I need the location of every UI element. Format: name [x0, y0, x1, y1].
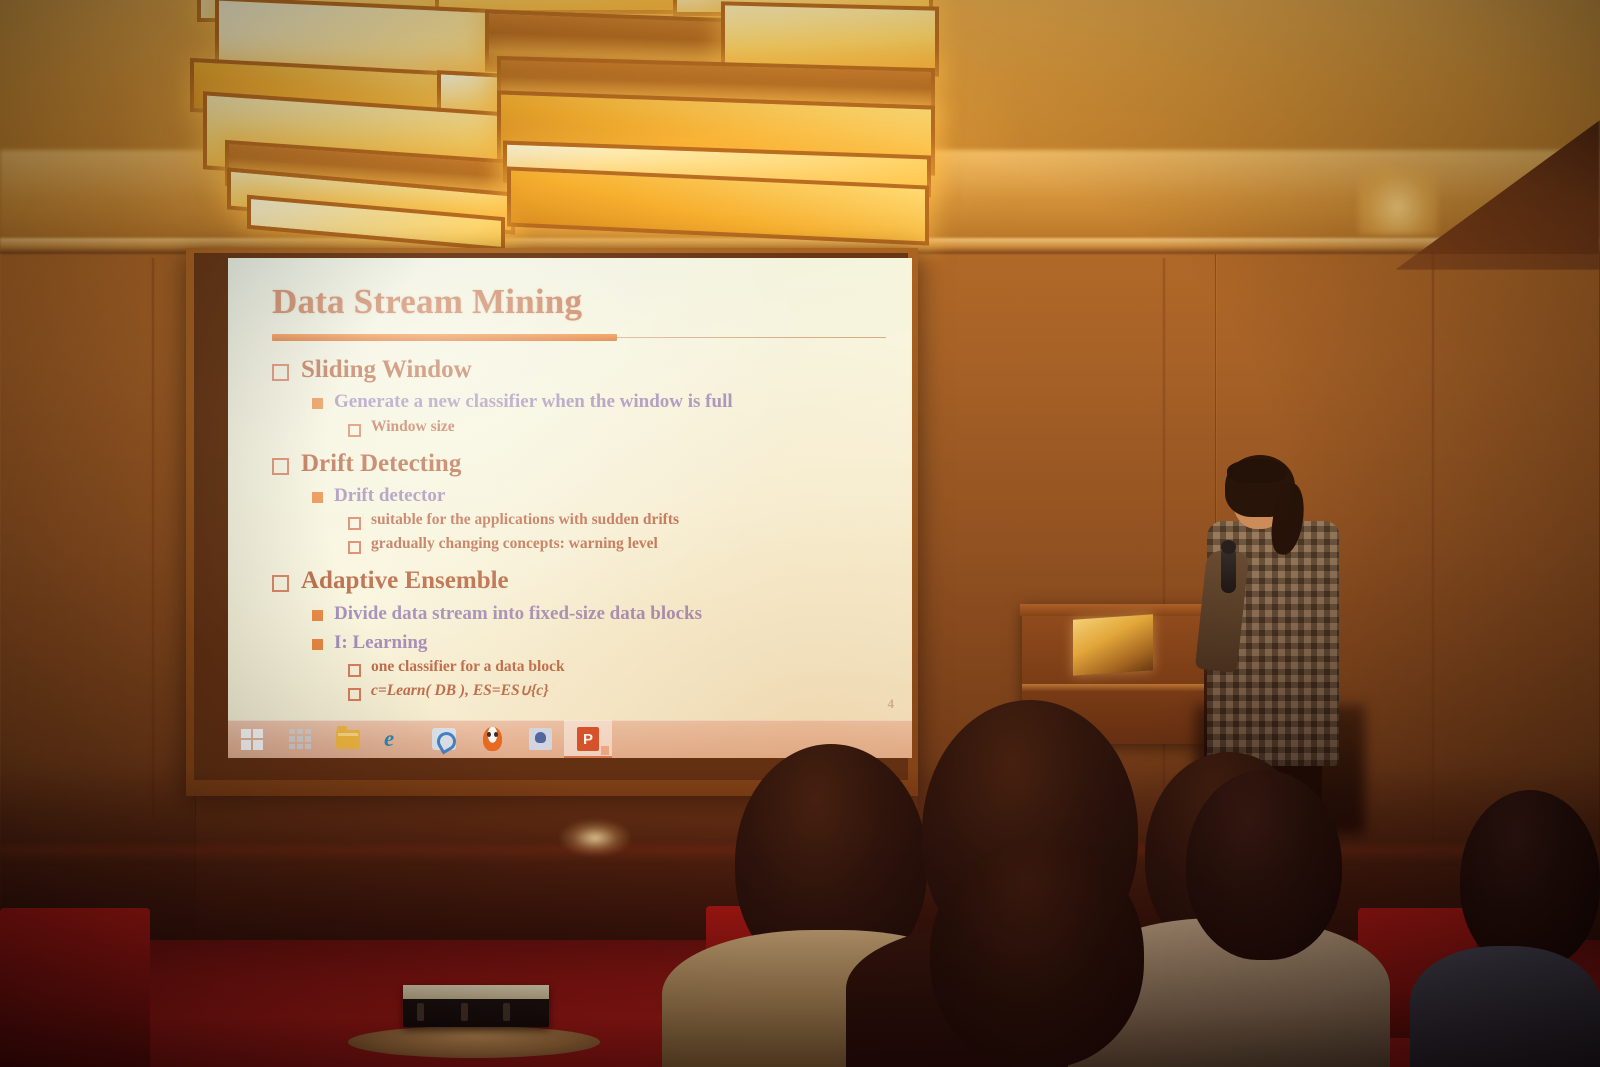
slide-bullet-list: Sliding Window Generate a new classifier…: [272, 356, 884, 702]
bullet-row: suitable for the applications with sudde…: [348, 511, 884, 530]
bullet-row: Generate a new classifier when the windo…: [312, 391, 884, 412]
app-button[interactable]: [516, 720, 564, 758]
bullet-text: suitable for the applications with sudde…: [371, 511, 679, 528]
device-top-label: [403, 985, 549, 999]
bullet-text: Sliding Window: [301, 356, 472, 384]
start-button[interactable]: [228, 720, 276, 758]
grid-icon: [289, 729, 311, 749]
bullet-formula-text: c=Learn( DB ), ES=ES∪{c}: [371, 682, 549, 699]
hollow-square-bullet-icon: [348, 664, 361, 677]
audience-head: [930, 840, 1144, 1067]
ie-icon: e: [384, 727, 408, 751]
bullet-text: Drift Detecting: [301, 450, 461, 478]
audience-head: [1186, 770, 1342, 960]
bullet-row: I: Learning: [312, 632, 884, 653]
bullet-row: gradually changing concepts: warning lev…: [348, 535, 884, 554]
ceiling-light-fixture: [185, 0, 945, 235]
bullet-row: Sliding Window: [272, 356, 884, 384]
bullet-text: Adaptive Ensemble: [301, 567, 509, 595]
folder-icon: [336, 730, 360, 749]
floor-spot-light-icon: [560, 820, 630, 856]
hollow-square-bullet-icon: [348, 424, 361, 437]
solid-square-bullet-icon: [312, 398, 323, 409]
podium-ledge: [1022, 684, 1212, 692]
browser-button[interactable]: [420, 720, 468, 758]
bullet-row: c=Learn( DB ), ES=ES∪{c}: [348, 682, 884, 701]
powerpoint-button[interactable]: P: [564, 720, 612, 758]
windows-logo-icon: [241, 729, 263, 750]
hollow-square-bullet-icon: [348, 541, 361, 554]
presentation-photo: Data Stream Mining Sliding Window Genera…: [0, 0, 1600, 1067]
solid-square-bullet-icon: [312, 639, 323, 650]
hollow-square-bullet-icon: [272, 575, 289, 592]
slide-title: Data Stream Mining: [272, 284, 884, 321]
speaker-bangs: [1227, 459, 1287, 483]
solid-square-bullet-icon: [312, 610, 323, 621]
bullet-row: Drift Detecting: [272, 450, 884, 478]
bullet-row: Divide data stream into fixed-size data …: [312, 603, 884, 624]
bullet-text: one classifier for a data block: [371, 658, 565, 675]
bullet-text: I: Learning: [334, 632, 427, 653]
slide-content: Data Stream Mining Sliding Window Genera…: [228, 258, 912, 758]
bullet-text: Drift detector: [334, 485, 445, 506]
device-knob: [461, 1003, 468, 1021]
podium-top-surface: [1020, 604, 1216, 616]
screen-surface: Data Stream Mining Sliding Window Genera…: [228, 258, 912, 758]
bullet-row: Window size: [348, 418, 884, 437]
title-underline: [272, 331, 884, 343]
hollow-square-bullet-icon: [272, 458, 289, 475]
round-table: [348, 1026, 600, 1058]
bullet-row: Drift detector: [312, 485, 884, 506]
audience-head: [1460, 790, 1600, 970]
solid-square-bullet-icon: [312, 492, 323, 503]
qq-penguin-icon: [483, 727, 502, 751]
hollow-square-bullet-icon: [348, 688, 361, 701]
bullet-text: Generate a new classifier when the windo…: [334, 391, 733, 412]
swirl-icon: [432, 728, 456, 750]
bullet-text: Window size: [371, 418, 455, 435]
qq-button[interactable]: [468, 720, 516, 758]
chair: [0, 908, 150, 1067]
hollow-square-bullet-icon: [348, 517, 361, 530]
hollow-square-bullet-icon: [272, 364, 289, 381]
bullet-row: one classifier for a data block: [348, 658, 884, 677]
recessed-cove-light-icon: [1358, 165, 1438, 235]
wall-seam-1: [152, 258, 154, 818]
bullet-row: Adaptive Ensemble: [272, 567, 884, 595]
audience-shoulders: [1410, 946, 1600, 1067]
podium-monitor: [1073, 614, 1153, 676]
device-knob: [417, 1003, 424, 1021]
control-device: [403, 985, 549, 1027]
device-knob: [503, 1003, 510, 1021]
microphone-icon: [1221, 547, 1236, 593]
file-explorer-button[interactable]: [324, 720, 372, 758]
powerpoint-icon: P: [577, 727, 599, 751]
title-rule-thick: [272, 334, 617, 341]
slide-number: 4: [888, 696, 895, 712]
bullet-text: Divide data stream into fixed-size data …: [334, 603, 702, 624]
bullet-text: gradually changing concepts: warning lev…: [371, 535, 658, 552]
blue-app-icon: [529, 728, 552, 750]
taskview-button[interactable]: [276, 720, 324, 758]
projection-screen: Data Stream Mining Sliding Window Genera…: [186, 248, 918, 796]
internet-explorer-button[interactable]: e: [372, 720, 420, 758]
